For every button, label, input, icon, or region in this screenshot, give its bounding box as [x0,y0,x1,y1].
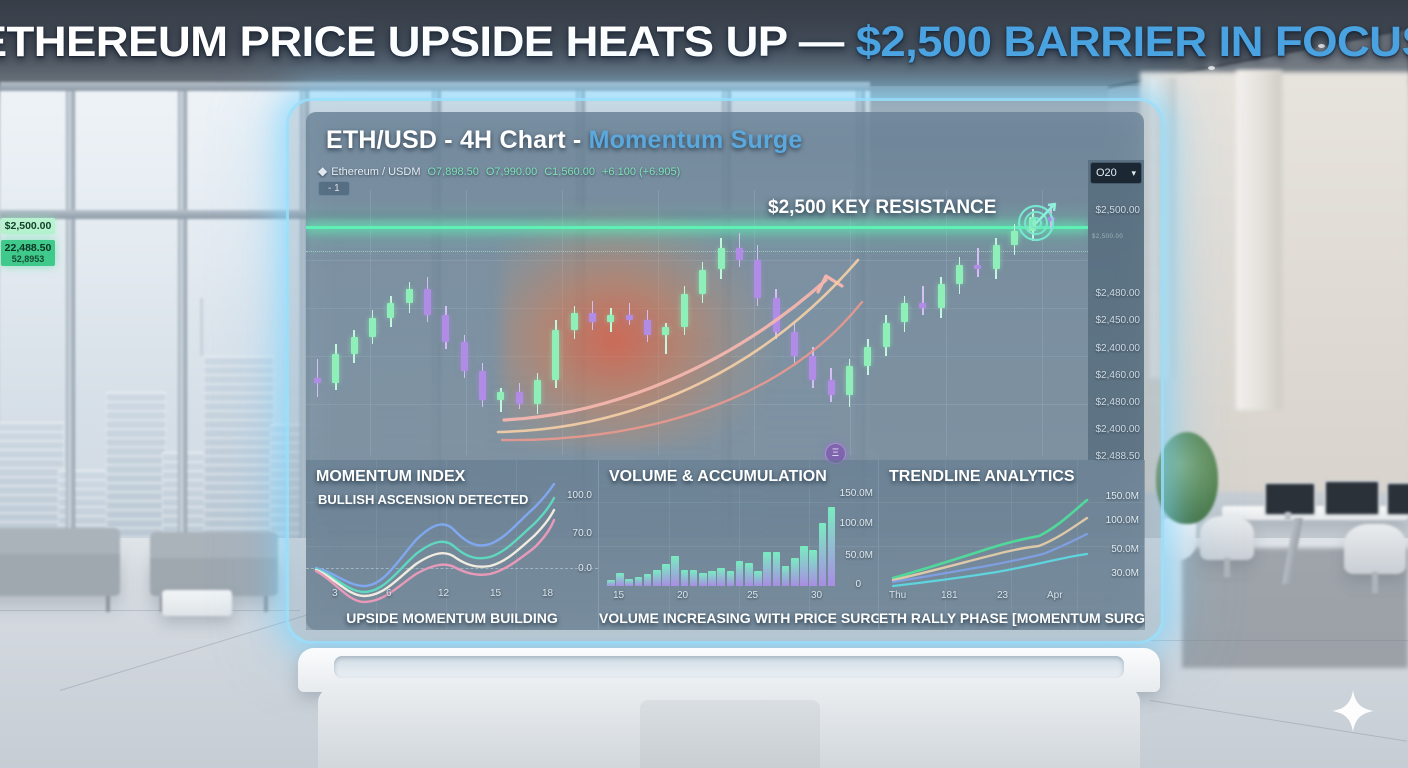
volume-bar [727,571,735,586]
office-chair [1344,524,1406,574]
coffee-table [162,590,232,616]
subpanel-ytick: 50.0M [845,550,873,561]
candlestick-chart[interactable] [306,190,1088,455]
volume-bar [763,552,771,586]
volume-bar [690,570,698,586]
volume-bar [754,571,762,586]
subpanel-xtick: 181 [941,590,958,601]
price-tick: $2,400.00 [1096,424,1141,435]
chevron-down-icon: ▾ [1131,168,1136,179]
headline-accent: $2,500 BARRIER IN FOCUS [856,18,1408,66]
subpanel-ytick: 150.0M [840,488,873,499]
ticker-close: C1,560.00 [544,166,595,178]
ticker-change: +6.100 (+6.905) [602,166,680,178]
pedestal-notch [640,700,820,768]
subpanel-xtick: 18 [542,588,553,599]
chair-post [1372,572,1378,594]
resistance-label: $2,500 KEY RESISTANCE [768,197,996,219]
plant-pot [1162,518,1196,560]
headline-main: ETHEREUM PRICE UPSIDE HEATS UP — [0,18,856,66]
sparkle-icon [1330,688,1376,734]
sofa [0,548,120,596]
price-tick: $2,450.00 [1096,315,1141,326]
price-tick: $2,500.00 [1096,205,1141,216]
volume-bar [671,556,679,587]
volume-bar [625,579,633,586]
volume-bar [791,558,799,586]
subpanel-ytick: 100.0 [567,490,592,501]
volume-bar [708,571,716,586]
panel-title-main: ETH/USD - 4H Chart - [326,126,589,154]
column [1236,70,1282,410]
subpanel-ytick: 0 [855,579,861,590]
trendline-lines [879,460,1145,630]
monitor-stand [1285,512,1291,520]
volume-bar [819,523,827,586]
subpanel-xtick: Thu [889,590,906,601]
price-axis: $2,500.00 $2,480.00 $2,450.00 $2,400.00 … [1088,160,1144,460]
subpanel-xtick: 12 [438,588,449,599]
volume-bar [736,561,744,586]
screenshot-stage: ETHEREUM PRICE UPSIDE HEATS UP — $2,500 … [0,0,1408,768]
subpanel-xtick: 3 [332,588,338,599]
pedestal-inset [334,656,1124,678]
last-price-value: 22,488.50 [1,242,55,254]
volume-bar [635,577,643,586]
volume-bar [616,573,624,586]
volume-bar [773,552,781,586]
volume-bar [717,568,725,586]
price-tick: $2,480.00 [1096,397,1141,408]
subpanel-ytick: 50.0M [1111,544,1139,555]
trend-overlays [306,190,1088,455]
monitor [1386,482,1408,516]
momentum-lines [306,460,598,630]
subpanel-xtick: Apr [1047,590,1063,601]
subpanel-momentum-index[interactable]: MOMENTUM INDEX BULLISH ASCENSION DETECTE… [306,460,598,630]
subpanel-xtick: 15 [490,588,501,599]
ghost-price-text: $2,500.00 [1092,234,1123,240]
office-chair [1200,516,1254,560]
subpanel-ytick: 0.0 [578,563,592,574]
last-price-badge: 22,488.50 52,8953 [1,240,55,266]
chair-base [1204,578,1252,582]
subpanel-ytick: 100.0M [1106,515,1139,526]
current-price-badge: $2,500.00 [1,218,55,234]
ticker-bar: ◆Ethereum / USDMO7,898.50O7,990.00C1,560… [318,164,680,178]
monitor [1324,480,1380,516]
ticker-symbol: Ethereum / USDM [331,166,420,178]
subpanel-ytick: 30.0M [1111,568,1139,579]
subpanel-ytick: 100.0M [840,518,873,529]
chair-base [1348,594,1404,598]
price-tick: $2,480.00 [1096,288,1141,299]
volume-bar [800,546,808,586]
volume-bars [607,498,837,586]
subpanel-xtick: 15 [613,590,624,601]
volume-bar [782,566,790,586]
volume-bar [828,507,836,586]
subpanel-ytick: 70.0 [573,528,592,539]
last-price-sub: 52,8953 [1,254,55,264]
volume-bar [662,564,670,586]
volume-bar [644,574,652,586]
subpanel-xtick: 20 [677,590,688,601]
subpanel-volume[interactable]: VOLUME & ACCUMULATION 150.0M 100.0M 50.0… [598,460,879,630]
price-tick: $2,460.00 [1096,370,1141,381]
subpanel-trendline[interactable]: TRENDLINE ANALYTICS 150.0M 100.0M 50.0M … [878,460,1145,630]
subpanel-footer: UPSIDE MOMENTUM BUILDING [306,610,598,626]
potted-plant [1156,432,1218,524]
volume-bar [607,580,615,586]
ticker-open: O7,898.50 [427,166,478,178]
subpanel-xtick: 6 [386,588,392,599]
chair-post [1224,558,1230,578]
target-bullseye-icon [1015,200,1059,244]
subpanel-title: VOLUME & ACCUMULATION [609,468,827,486]
subpanel-footer: VOLUME INCREASING WITH PRICE SURGE [599,610,879,626]
panel-title: ETH/USD - 4H Chart - Momentum Surge [326,126,802,155]
monitor [1264,482,1316,516]
subpanel-footer: ETH RALLY PHASE [MOMENTUM SURGE] [879,610,1145,626]
panel-title-accent: Momentum Surge [589,126,803,154]
volume-bar [809,550,817,586]
volume-bar [653,570,661,586]
timeframe-select[interactable]: O20 ▾ [1090,162,1142,184]
timeframe-select-value: O20 [1096,167,1117,179]
subpanel-xtick: 30 [811,590,822,601]
subpanel-ytick: 150.0M [1106,491,1139,502]
subpanel-xtick: 23 [997,590,1008,601]
price-tick: $2,400.00 [1096,343,1141,354]
volume-bar [699,573,707,586]
subpanel-xtick: 25 [747,590,758,601]
page-headline: ETHEREUM PRICE UPSIDE HEATS UP — $2,500 … [0,18,1408,67]
volume-bar [681,570,689,586]
volume-bar [745,563,753,586]
ticker-high: O7,990.00 [486,166,537,178]
ethereum-icon: ◆ [318,164,327,178]
